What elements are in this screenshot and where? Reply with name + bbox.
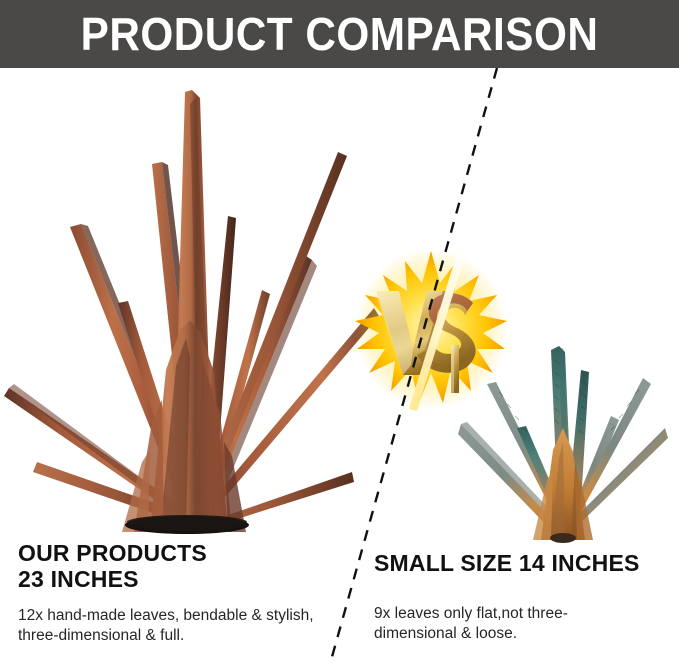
left-caption-body: 12x hand-made leaves, bendable & stylish… [18, 606, 348, 646]
left-caption-heading: OUR PRODUCTS 23 INCHES [18, 540, 348, 592]
right-product-base [550, 533, 576, 543]
left-product-leaf-group [4, 90, 379, 532]
vs-badge [355, 245, 510, 415]
product-comparison-image: PRODUCT COMPARISON [0, 0, 679, 664]
right-caption-heading: SMALL SIZE 14 INCHES [374, 550, 669, 576]
left-caption-heading-line2: 23 INCHES [18, 566, 348, 592]
header-bar: PRODUCT COMPARISON [0, 0, 679, 68]
left-caption-body-line2: three-dimensional & full. [18, 626, 348, 646]
right-caption-body: 9x leaves only flat,not three- dimension… [374, 604, 669, 644]
left-caption-heading-line1: OUR PRODUCTS [18, 540, 348, 566]
left-caption-body-line1: 12x hand-made leaves, bendable & stylish… [18, 606, 348, 626]
right-product-caption: SMALL SIZE 14 INCHES 9x leaves only flat… [374, 550, 669, 644]
left-product-caption: OUR PRODUCTS 23 INCHES 12x hand-made lea… [18, 540, 348, 646]
left-product-image [0, 70, 380, 540]
right-caption-body-line2: dimensional & loose. [374, 624, 669, 644]
right-caption-body-line1: 9x leaves only flat,not three- [374, 604, 669, 624]
page-title: PRODUCT COMPARISON [27, 0, 652, 68]
